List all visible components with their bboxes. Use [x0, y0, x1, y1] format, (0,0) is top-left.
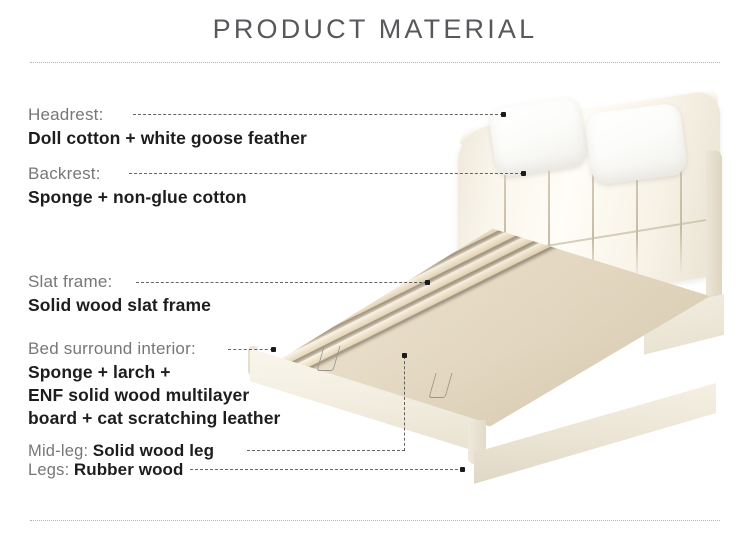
- product-image-bed: [236, 88, 736, 488]
- callout-backrest: Backrest: Sponge + non-glue cotton: [28, 163, 247, 209]
- product-material-infographic: PRODUCT MATERIAL: [0, 0, 750, 540]
- callout-slat-frame: Slat frame: Solid wood slat frame: [28, 271, 211, 317]
- leader-line-mid-leg-vertical: [404, 356, 405, 451]
- callout-mid-leg-label: Mid-leg:: [28, 442, 88, 460]
- callout-bed-surround-interior: Bed surround interior: Sponge + larch + …: [28, 338, 280, 430]
- leader-line-slat-frame: [136, 282, 427, 283]
- leader-line-mid-leg: [247, 450, 405, 451]
- leader-dot-slat-frame: [425, 280, 430, 285]
- leader-line-legs: [190, 469, 463, 470]
- callout-bed-surround-interior-value-line3: board + cat scratching leather: [28, 407, 280, 430]
- pillow-left: [487, 96, 588, 179]
- callout-legs-label: Legs:: [28, 461, 69, 479]
- leader-dot-headrest: [501, 112, 506, 117]
- page-title: PRODUCT MATERIAL: [0, 14, 750, 45]
- callout-backrest-value: Sponge + non-glue cotton: [28, 186, 247, 209]
- leader-line-bed-surround-interior: [228, 349, 273, 350]
- callout-mid-leg-value: Solid wood leg: [93, 441, 214, 460]
- callout-backrest-label: Backrest:: [28, 163, 247, 186]
- callout-bed-surround-interior-value-line1: Sponge + larch +: [28, 361, 280, 384]
- leader-line-headrest: [133, 114, 503, 115]
- divider-top: [30, 62, 720, 63]
- callout-headrest-label: Headrest:: [28, 104, 307, 127]
- leader-line-backrest: [129, 173, 523, 174]
- headboard-side-panel: [706, 149, 722, 302]
- callout-headrest: Headrest: Doll cotton + white goose feat…: [28, 104, 307, 150]
- callout-slat-frame-value: Solid wood slat frame: [28, 294, 211, 317]
- leader-dot-bed-surround-interior: [271, 347, 276, 352]
- callout-legs: Legs: Rubber wood: [28, 459, 184, 482]
- leader-dot-legs: [460, 467, 465, 472]
- callout-headrest-value: Doll cotton + white goose feather: [28, 127, 307, 150]
- divider-bottom: [30, 520, 720, 521]
- pillow-right: [584, 102, 688, 185]
- callout-legs-value: Rubber wood: [74, 460, 184, 479]
- leader-dot-backrest: [521, 171, 526, 176]
- leader-dot-mid-leg: [402, 353, 407, 358]
- callout-bed-surround-interior-value-line2: ENF solid wood multilayer: [28, 384, 280, 407]
